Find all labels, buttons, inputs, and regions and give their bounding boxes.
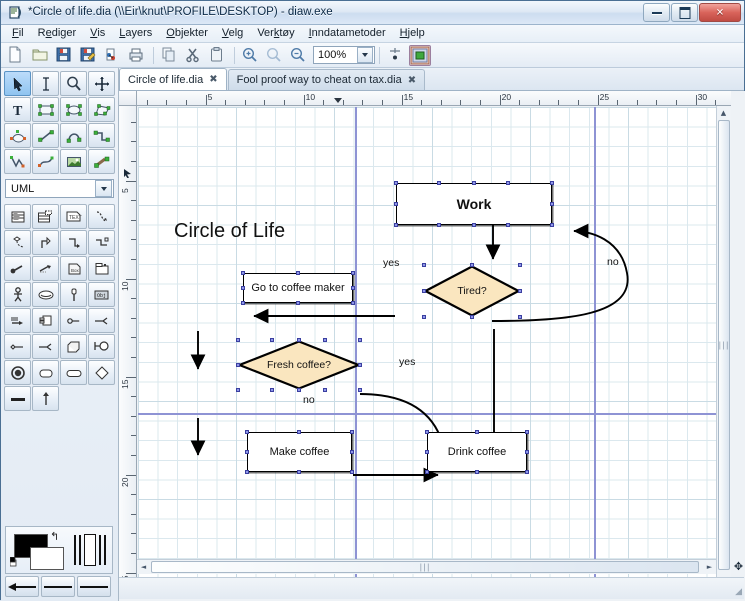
selection-handle[interactable] [241,286,245,290]
background-color-swatch[interactable] [30,547,64,570]
selection-handle[interactable] [358,363,362,367]
print-icon[interactable] [126,45,148,66]
selection-handle[interactable] [270,388,274,392]
uml-association-icon[interactable] [88,230,115,255]
uml-lifeline-icon[interactable] [4,256,31,281]
tab-fool-proof-tax[interactable]: Fool proof way to cheat on tax.dia ✖ [228,69,426,90]
ruler-tick [343,100,344,105]
selection-handle[interactable] [297,338,301,342]
ruler-label: 5 [120,188,130,193]
line-style[interactable] [41,576,75,597]
uml-fork-icon[interactable] [4,334,31,359]
uml-decision-icon[interactable] [88,360,115,385]
solid-line-style[interactable] [99,535,101,565]
ruler-tick [715,100,716,105]
scroll-up-icon[interactable]: ▲ [717,106,730,119]
close-icon[interactable]: ✖ [209,74,217,85]
dia-app-icon [8,5,23,20]
uml-component-icon[interactable]: Box [60,256,87,281]
selection-handle[interactable] [350,470,354,474]
ruler-tick [460,100,461,105]
uml-initial-state-icon[interactable] [4,360,31,385]
chevron-down-icon[interactable] [95,180,112,197]
box-tool[interactable] [32,97,59,122]
ruler-tick [131,455,136,456]
solid-line-style[interactable] [74,535,76,565]
ruler-tick [126,279,136,280]
tab-circle-of-life[interactable]: Circle of life.dia ✖ [119,68,227,90]
selection-handle[interactable] [470,315,474,319]
solid-line-style[interactable] [104,535,106,565]
open-folder-icon[interactable] [30,45,52,66]
selection-handle[interactable] [475,430,479,434]
uml-activity-icon[interactable] [4,308,31,333]
uml-state-term-icon[interactable]: Obj [88,282,115,307]
ruler-tick [421,100,422,105]
edge-label-no-fresh: no [303,394,315,406]
menu-objekter[interactable]: Objekter [159,25,215,42]
text-tool[interactable]: T [4,97,31,122]
vertical-scrollbar[interactable]: ▲ ||| ▼ [716,106,731,586]
selection-handle[interactable] [394,223,398,227]
uml-transition-icon[interactable] [32,386,59,411]
uml-message-icon[interactable] [32,256,59,281]
uml-state-icon[interactable] [88,334,115,359]
node-work[interactable]: Work [396,183,552,225]
magnify-tool[interactable] [60,71,87,96]
ruler-tick [131,533,136,534]
sheet-selector-combobox[interactable]: UML [5,179,114,198]
ruler-tick [637,100,638,105]
selection-handle[interactable] [296,271,300,275]
copy-icon[interactable] [159,45,181,66]
menu-layers[interactable]: Layers [112,25,159,42]
ruler-tick [225,100,226,105]
selection-handle[interactable] [245,470,249,474]
new-icon[interactable] [6,45,28,66]
ruler-tick [126,475,136,476]
selection-handle[interactable] [351,301,355,305]
uml-branch-icon[interactable] [88,308,115,333]
uml-state-rounded-icon[interactable] [60,360,87,385]
status-bar: ◢ [119,577,744,599]
vertical-ruler: 510152025 [119,106,137,586]
ruler-label: 30 [698,92,707,102]
selection-handle[interactable] [518,263,522,267]
menu-fil[interactable]: FFilil [5,25,31,42]
zigzagline-tool[interactable] [88,123,115,148]
node-label: Fresh coffee? [238,340,360,390]
uml-usecase-icon[interactable] [32,282,59,307]
selection-handle[interactable] [425,450,429,454]
ruler-tick [131,416,136,417]
tool-grid: T [1,68,118,175]
ruler-tick [147,100,148,105]
ruler-tick [131,494,136,495]
polygon-tool[interactable] [88,97,115,122]
image-tool[interactable] [60,149,87,174]
ruler-tick [131,141,136,142]
edge-label-no-tired: no [607,256,619,268]
menu-rediger[interactable]: Rediger [31,25,84,42]
toolbar-separator [379,47,380,64]
selection-handle[interactable] [475,470,479,474]
uml-package-icon[interactable] [88,256,115,281]
uml-class-icon[interactable] [4,204,31,229]
ruler-tick [264,100,265,105]
selection-handle[interactable] [422,289,426,293]
reset-colors-icon[interactable] [10,557,20,567]
uml-activity-round-icon[interactable] [32,360,59,385]
selection-handle[interactable] [422,263,426,267]
menu-velg[interactable]: Velg [215,25,250,42]
menu-hjelp[interactable]: Hjelp [393,25,432,42]
ruler-tick [500,95,501,105]
selection-handle[interactable] [550,223,554,227]
horizontal-ruler: 51015202530 [137,91,731,106]
cut-icon[interactable] [183,45,205,66]
dashed-line-style[interactable] [84,534,96,566]
uml-component-feature-icon[interactable] [32,308,59,333]
vertical-scroll-thumb[interactable]: ||| [718,120,730,570]
node-label: Work [457,196,492,212]
node-label: Make coffee [270,446,330,458]
selection-handle[interactable] [297,470,301,474]
selection-handle[interactable] [350,450,354,454]
ruler-tick [598,95,599,105]
svg-text:Obj: Obj [97,293,106,299]
line-tool[interactable] [32,123,59,148]
title-bar: *Circle of life.dia (\\Eir\knut\PROFILE\… [1,1,744,25]
selection-handle[interactable] [550,181,554,185]
swap-colors-icon[interactable]: ↰ [50,530,59,543]
bezierline-tool[interactable] [32,149,59,174]
svg-text:T: T [13,104,23,118]
menu-bar: FFilil Rediger Vis Layers Objekter Velg … [1,25,744,43]
ruler-corner [119,91,137,106]
color-swatches: ↰ [6,527,68,573]
selection-handle[interactable] [245,430,249,434]
ruler-tick [126,377,136,378]
ruler-tick [245,100,246,105]
selection-handle[interactable] [323,388,327,392]
scroll-right-icon[interactable]: ► [703,560,716,573]
maximize-button[interactable] [671,3,698,22]
edge-label-yes-tired: yes [383,257,399,269]
ruler-tick [676,100,677,105]
selection-handle[interactable] [506,181,510,185]
ruler-tick [166,100,167,105]
dia-application-window: *Circle of life.dia (\\Eir\knut\PROFILE\… [0,0,745,600]
window-resize-grip[interactable]: ◢ [735,587,742,597]
ruler-tick [131,298,136,299]
selection-handle[interactable] [351,286,355,290]
ruler-tick [539,100,540,105]
drawing-canvas[interactable]: Circle of Life Work Tired? Go to coffee … [138,107,731,586]
ruler-tick [323,100,324,105]
text-edit-tool[interactable] [32,71,59,96]
scroll-left-icon[interactable]: ◄ [137,560,150,573]
svg-text:TEXT: TEXT [69,215,82,221]
zoom-icon[interactable] [264,45,286,66]
tab-label: Fool proof way to cheat on tax.dia [237,74,402,86]
ruler-tick [131,200,136,201]
ruler-tick [131,553,136,554]
ruler-label: 15 [120,379,130,388]
edge-layer [138,107,731,586]
ruler-tick [304,95,305,105]
node-drink-coffee[interactable]: Drink coffee [427,432,527,472]
diagram-tab-strip: Circle of life.dia ✖ Fool proof way to c… [119,69,744,91]
selection-handle[interactable] [351,271,355,275]
menu-inndatametoder[interactable]: Inndatametoder [302,25,393,42]
color-selector: ↰ [5,526,113,574]
close-icon[interactable]: ✖ [408,75,416,86]
selection-handle[interactable] [358,338,362,342]
selection-handle[interactable] [472,181,476,185]
ruler-tick [696,95,697,105]
selection-handle[interactable] [437,181,441,185]
solid-line-style[interactable] [79,535,81,565]
ruler-tick [131,435,136,436]
selection-handle[interactable] [394,181,398,185]
beziergon-tool[interactable] [4,123,31,148]
ruler-label: 25 [600,92,609,102]
chevron-down-icon[interactable] [357,47,373,63]
ruler-tick [131,122,136,123]
ruler-tick [131,318,136,319]
cursor-position-marker [124,169,132,181]
ruler-label: 10 [306,92,315,102]
uml-constraint-icon[interactable] [32,334,59,359]
uml-dependency-icon[interactable] [88,204,115,229]
menu-vis[interactable]: Vis [83,25,112,42]
ellipse-tool[interactable] [60,97,87,122]
scroll-thumb-grip: ||| [419,563,430,572]
paste-icon[interactable] [207,45,229,66]
ruler-tick [578,100,579,105]
sheet-selector-value: UML [6,183,95,195]
selection-handle[interactable] [472,223,476,227]
node-go-to-coffee-maker[interactable]: Go to coffee maker [243,273,353,303]
selection-handle[interactable] [241,271,245,275]
outline-tool[interactable] [88,149,115,174]
uml-small-package-icon[interactable] [60,308,87,333]
window-title: *Circle of life.dia (\\Eir\knut\PROFILE\… [28,5,333,20]
arrow-style-row [5,576,113,597]
horizontal-scroll-thumb[interactable]: ||| [151,561,699,573]
pan-tool-button[interactable]: ✥ [731,559,745,574]
ruler-tick [131,239,136,240]
node-label: Tired? [424,265,520,317]
zoom-in-icon[interactable] [240,45,262,66]
selection-handle[interactable] [425,430,429,434]
uml-fork-bar-icon[interactable] [4,386,31,411]
selection-handle[interactable] [525,430,529,434]
menu-verktoy[interactable]: Verktøy [250,25,301,42]
arc-tool[interactable] [60,123,87,148]
ruler-tick [441,100,442,105]
ruler-tick [126,573,136,574]
node-fresh-coffee[interactable]: Fresh coffee? [238,340,360,390]
ruler-tick [362,100,363,105]
ruler-tick [131,220,136,221]
ruler-tick [131,259,136,260]
selection-handle[interactable] [358,388,362,392]
selection-handle[interactable] [236,338,240,342]
selection-handle[interactable] [422,315,426,319]
uml-realization-icon[interactable] [32,230,59,255]
ruler-tick [284,100,285,105]
selection-handle[interactable] [550,202,554,206]
ruler-tick [617,100,618,105]
toolbar-separator [234,47,235,64]
save-as-icon[interactable] [78,45,100,66]
ruler-label: 20 [502,92,511,102]
ruler-tick [519,100,520,105]
svg-text:Box: Box [71,268,80,273]
close-button[interactable]: ✕ [699,3,741,22]
ruler-tick [131,337,136,338]
selection-handle[interactable] [518,315,522,319]
ruler-tick [186,100,187,105]
selection-handle[interactable] [437,223,441,227]
node-label: Go to coffee maker [251,282,344,294]
selection-handle[interactable] [297,388,301,392]
ruler-label: 15 [404,92,413,102]
ruler-tick [206,95,207,105]
selection-handle[interactable] [323,338,327,342]
shape-grid: TEXT Box Obj [1,201,118,412]
ruler-label: 5 [208,92,213,102]
toolbox-bottom-section: ↰ [5,526,113,597]
scroll-tool[interactable] [88,71,115,96]
ruler-tick [131,357,136,358]
show-page-breaks-icon[interactable] [409,45,431,66]
line-style-selector[interactable] [68,527,112,573]
ruler-tick [131,396,136,397]
zoom-out-icon[interactable] [288,45,310,66]
selection-handle[interactable] [270,338,274,342]
flowchart: Circle of Life Work Tired? Go to coffee … [138,107,731,586]
node-tired[interactable]: Tired? [424,265,520,317]
diagram-title[interactable]: Circle of Life [174,220,285,243]
cursor-position-marker [334,98,342,103]
uml-class-template-icon[interactable] [32,204,59,229]
toolbar-separator [153,47,154,64]
node-make-coffee[interactable]: Make coffee [247,432,352,472]
modify-pointer-tool[interactable] [4,71,31,96]
ruler-tick [131,161,136,162]
zoom-level-combobox[interactable]: 100% [313,46,375,64]
ruler-tick [131,514,136,515]
selection-handle[interactable] [245,450,249,454]
selection-handle[interactable] [297,430,301,434]
arrow-start-style[interactable] [5,576,39,597]
save-icon[interactable] [54,45,76,66]
ruler-tick [402,95,403,105]
arrow-end-style[interactable] [77,576,111,597]
selection-handle[interactable] [236,388,240,392]
ruler-label: 10 [120,281,130,290]
edge-label-yes-fresh: yes [399,356,415,368]
export-icon[interactable] [102,45,124,66]
main-toolbar: 100% [1,43,744,68]
minimize-button[interactable] [643,3,670,22]
uml-implements-icon[interactable] [60,230,87,255]
ruler-tick [382,100,383,105]
selection-handle[interactable] [425,470,429,474]
uml-node-icon[interactable] [60,334,87,359]
horizontal-scrollbar[interactable]: ◄ ||| ► [137,559,716,574]
ruler-tick [558,100,559,105]
tab-label: Circle of life.dia [128,74,203,86]
scroll-thumb-grip: ||| [718,341,729,350]
ruler-label: 20 [120,477,130,486]
uml-actor-icon[interactable] [4,282,31,307]
selection-handle[interactable] [518,289,522,293]
snap-to-grid-icon[interactable] [385,45,407,66]
uml-generalization-icon[interactable] [4,230,31,255]
selection-handle[interactable] [470,263,474,267]
selection-handle[interactable] [236,363,240,367]
selection-handle[interactable] [296,301,300,305]
selection-handle[interactable] [525,470,529,474]
selection-handle[interactable] [525,450,529,454]
polyline-tool[interactable] [4,149,31,174]
ruler-tick [480,100,481,105]
selection-handle[interactable] [350,430,354,434]
toolbox-panel: T [1,68,119,601]
zoom-level-value: 100% [314,49,357,61]
selection-handle[interactable] [394,202,398,206]
ruler-tick [656,100,657,105]
selection-handle[interactable] [506,223,510,227]
selection-handle[interactable] [241,301,245,305]
diagram-canvas-area: 51015202530 510152025 [119,91,745,601]
node-label: Drink coffee [448,446,507,458]
uml-note-icon[interactable]: TEXT [60,204,87,229]
window-controls: ✕ [642,3,741,23]
uml-object-icon[interactable] [60,282,87,307]
